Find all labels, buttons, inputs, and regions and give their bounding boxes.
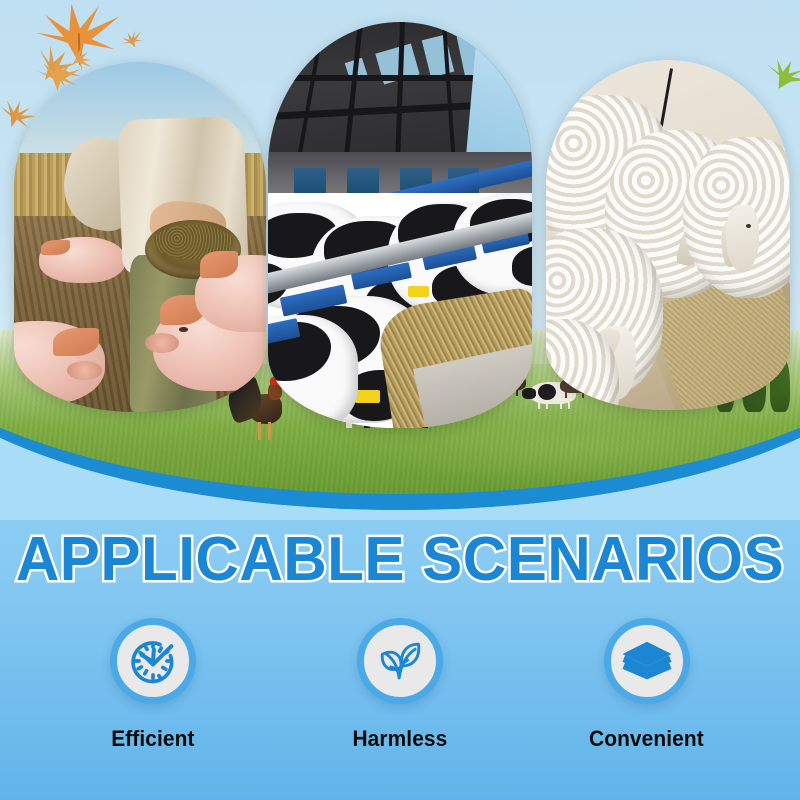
feature-label-convenient: Convenient bbox=[589, 726, 704, 752]
pig bbox=[195, 255, 266, 332]
clock-check-icon bbox=[125, 633, 181, 689]
photo-collage-area bbox=[0, 0, 800, 520]
feature-badge-efficient bbox=[110, 618, 196, 704]
layers-icon bbox=[619, 633, 675, 689]
photo-sheep-trough bbox=[546, 60, 790, 410]
feature-item-harmless[interactable]: Harmless bbox=[300, 618, 500, 752]
leaf-icon bbox=[373, 634, 427, 688]
page-title: APPLICABLE SCENARIOS bbox=[12, 524, 788, 595]
feature-item-efficient[interactable]: Efficient bbox=[53, 618, 253, 752]
feature-badge-harmless bbox=[357, 618, 443, 704]
bottom-content-section: APPLICABLE SCENARIOS bbox=[0, 500, 800, 800]
photo-pigs-feeding bbox=[14, 62, 266, 412]
feature-label-harmless: Harmless bbox=[353, 726, 448, 752]
feature-list: Efficient bbox=[0, 618, 800, 752]
feature-badge-convenient bbox=[604, 618, 690, 704]
pig bbox=[39, 237, 125, 283]
applicable-scenarios-poster: APPLICABLE SCENARIOS bbox=[0, 0, 800, 800]
feature-item-convenient[interactable]: Convenient bbox=[547, 618, 747, 752]
feature-label-efficient: Efficient bbox=[112, 726, 195, 752]
photo-dairy-cows-barn bbox=[268, 22, 532, 428]
